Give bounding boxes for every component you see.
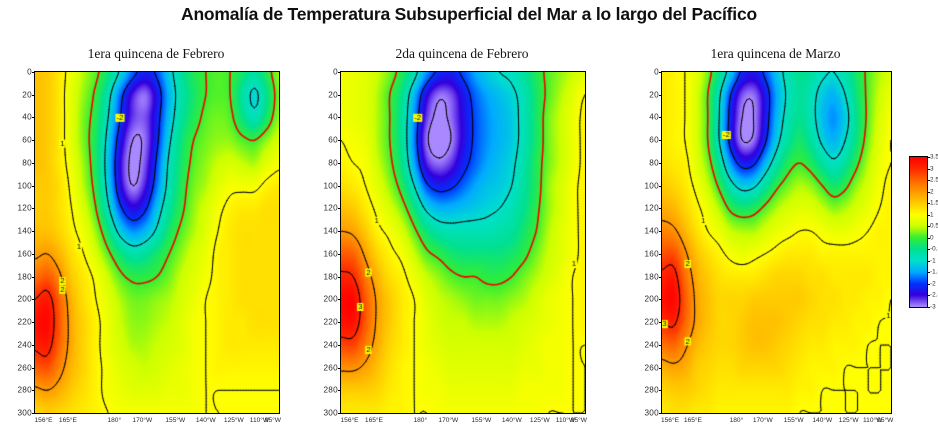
figure-title: Anomalía de Temperatura Subsuperficial d… <box>0 4 938 25</box>
y-axis-tick-label: 60 <box>328 136 338 145</box>
x-axis-tick-label: 156°E <box>341 417 359 424</box>
y-axis-tick-mark <box>659 277 662 278</box>
colorbar-tick-label: -1.5 <box>930 269 938 276</box>
colorbar-tick-label: -0.5 <box>930 246 938 253</box>
y-axis-tick-mark <box>659 368 662 369</box>
y-axis-tick-label: 160 <box>644 249 659 258</box>
y-axis-tick-mark <box>32 390 35 391</box>
y-axis-tick-mark <box>338 163 341 164</box>
colorbar-tick-mark <box>927 226 930 227</box>
y-axis-tick-mark <box>32 299 35 300</box>
x-axis-tick-label: 170°W <box>132 417 152 424</box>
y-axis-tick-label: 120 <box>644 204 659 213</box>
y-axis-tick-mark <box>338 368 341 369</box>
y-axis-tick-mark <box>32 277 35 278</box>
colorbar-tick-mark <box>927 249 930 250</box>
y-axis-tick-label: 200 <box>323 295 338 304</box>
panel-title: 2da quincena de Febrero <box>340 46 584 62</box>
y-axis-tick-label: 100 <box>644 181 659 190</box>
colorbar-tick-mark <box>927 169 930 170</box>
y-axis-tick-mark <box>338 322 341 323</box>
x-axis-tick-label: 140°W <box>196 417 216 424</box>
y-axis-tick-mark <box>32 72 35 73</box>
y-axis-tick-mark <box>659 72 662 73</box>
y-axis-tick-mark <box>32 163 35 164</box>
y-axis-tick-label: 300 <box>644 409 659 418</box>
y-axis-tick-label: 220 <box>323 318 338 327</box>
y-axis-tick-mark <box>659 95 662 96</box>
anomaly-field-canvas <box>341 72 585 413</box>
y-axis-tick-label: 60 <box>22 136 32 145</box>
x-axis-tick-label: 140°W <box>812 417 832 424</box>
y-axis-tick-mark <box>659 413 662 414</box>
y-axis-tick-mark <box>659 299 662 300</box>
colorbar-tick-mark <box>927 238 930 239</box>
y-axis-tick-mark <box>32 231 35 232</box>
colorbar-tick-label: 0 <box>930 234 934 241</box>
y-axis-tick-mark <box>338 95 341 96</box>
y-axis-tick-mark <box>32 117 35 118</box>
y-axis-tick-mark <box>338 208 341 209</box>
y-axis-tick-mark <box>338 231 341 232</box>
y-axis-tick-label: 40 <box>328 113 338 122</box>
y-axis-tick-label: 140 <box>323 227 338 236</box>
colorbar-tick-label: 1.5 <box>930 200 938 207</box>
y-axis-tick-label: 220 <box>644 318 659 327</box>
y-axis-tick-mark <box>32 322 35 323</box>
y-axis-tick-label: 260 <box>644 363 659 372</box>
y-axis-tick-label: 20 <box>649 90 659 99</box>
y-axis-tick-mark <box>659 231 662 232</box>
y-axis-tick-label: 240 <box>644 340 659 349</box>
x-axis-tick-label: 125°W <box>530 417 550 424</box>
plot-area: 0204060801001201401601802002202402602803… <box>34 71 280 414</box>
colorbar-tick-mark <box>927 261 930 262</box>
colorbar-tick-label: -1 <box>930 257 936 264</box>
y-axis-tick-label: 60 <box>649 136 659 145</box>
x-axis-tick-label: 125°W <box>224 417 244 424</box>
y-axis-tick-mark <box>32 95 35 96</box>
colorbar: 3.532.521.510.50-0.5-1-1.5-2-2.5-3 <box>909 156 928 308</box>
y-axis-tick-label: 280 <box>17 386 32 395</box>
colorbar-tick-mark <box>927 215 930 216</box>
y-axis-tick-label: 80 <box>22 158 32 167</box>
x-axis-tick-label: 180° <box>730 417 744 424</box>
colorbar-tick-label: 1 <box>930 211 934 218</box>
y-axis-tick-label: 20 <box>328 90 338 99</box>
y-axis-tick-label: 240 <box>17 340 32 349</box>
x-axis-tick-label: 165°E <box>365 417 383 424</box>
panel-title: 1era quincena de Marzo <box>661 46 890 62</box>
y-axis-tick-label: 260 <box>17 363 32 372</box>
y-axis-tick-mark <box>32 345 35 346</box>
colorbar-tick-mark <box>927 295 930 296</box>
y-axis-tick-label: 180 <box>323 272 338 281</box>
y-axis-tick-label: 200 <box>644 295 659 304</box>
x-axis-tick-label: 95°W <box>877 417 893 424</box>
y-axis-tick-mark <box>338 390 341 391</box>
plot-area: 0204060801001201401601802002202402602803… <box>340 71 586 414</box>
panel-feb-1: 1era quincena de Febrero0204060801001201… <box>34 71 278 412</box>
y-axis-tick-label: 80 <box>328 158 338 167</box>
y-axis-tick-label: 300 <box>17 409 32 418</box>
y-axis-tick-mark <box>659 208 662 209</box>
colorbar-tick-label: -2.5 <box>930 292 938 299</box>
y-axis-tick-mark <box>659 345 662 346</box>
y-axis-tick-mark <box>338 140 341 141</box>
x-axis-tick-label: 156°E <box>661 417 679 424</box>
colorbar-tick-mark <box>927 272 930 273</box>
y-axis-tick-label: 40 <box>649 113 659 122</box>
x-axis-tick-label: 155°W <box>165 417 185 424</box>
colorbar-tick-mark <box>927 307 930 308</box>
y-axis-tick-mark <box>659 117 662 118</box>
y-axis-tick-label: 300 <box>323 409 338 418</box>
y-axis-tick-label: 100 <box>17 181 32 190</box>
y-axis-tick-mark <box>338 299 341 300</box>
y-axis-tick-mark <box>338 117 341 118</box>
y-axis-tick-label: 100 <box>323 181 338 190</box>
y-axis-tick-label: 140 <box>644 227 659 236</box>
y-axis-tick-label: 40 <box>22 113 32 122</box>
y-axis-tick-mark <box>32 140 35 141</box>
y-axis-tick-mark <box>338 277 341 278</box>
colorbar-tick-mark <box>927 180 930 181</box>
y-axis-tick-mark <box>338 345 341 346</box>
y-axis-tick-label: 200 <box>17 295 32 304</box>
panel-mar-1: 1era quincena de Marzo020406080100120140… <box>661 71 890 412</box>
y-axis-tick-mark <box>338 254 341 255</box>
y-axis-tick-mark <box>659 163 662 164</box>
x-axis-tick-label: 156°E <box>35 417 53 424</box>
colorbar-tick-mark <box>927 157 930 158</box>
y-axis-tick-mark <box>32 368 35 369</box>
y-axis-tick-mark <box>659 322 662 323</box>
colorbar-tick-mark <box>927 203 930 204</box>
x-axis-tick-label: 155°W <box>784 417 804 424</box>
y-axis-tick-label: 120 <box>323 204 338 213</box>
y-axis-tick-mark <box>32 208 35 209</box>
y-axis-tick-mark <box>338 413 341 414</box>
y-axis-tick-mark <box>659 254 662 255</box>
x-axis-tick-label: 170°W <box>438 417 458 424</box>
y-axis-tick-label: 80 <box>649 158 659 167</box>
y-axis-tick-mark <box>338 186 341 187</box>
x-axis-tick-label: 95°W <box>265 417 281 424</box>
x-axis-tick-label: 165°E <box>59 417 77 424</box>
anomaly-field-canvas <box>35 72 279 413</box>
y-axis-tick-mark <box>32 254 35 255</box>
x-axis-tick-label: 125°W <box>839 417 859 424</box>
y-axis-tick-mark <box>659 390 662 391</box>
y-axis-tick-mark <box>32 413 35 414</box>
y-axis-tick-label: 180 <box>644 272 659 281</box>
colorbar-tick-mark <box>927 192 930 193</box>
colorbar-tick-label: 3 <box>930 165 934 172</box>
y-axis-tick-mark <box>659 186 662 187</box>
x-axis-tick-label: 165°E <box>684 417 702 424</box>
y-axis-tick-label: 120 <box>17 204 32 213</box>
colorbar-tick-label: 2 <box>930 188 934 195</box>
colorbar-tick-label: -2 <box>930 280 936 287</box>
colorbar-tick-label: 2.5 <box>930 177 938 184</box>
y-axis-tick-label: 160 <box>17 249 32 258</box>
y-axis-tick-mark <box>32 186 35 187</box>
y-axis-tick-label: 220 <box>17 318 32 327</box>
panel-title: 1era quincena de Febrero <box>34 46 278 62</box>
y-axis-tick-label: 280 <box>323 386 338 395</box>
x-axis-tick-label: 140°W <box>502 417 522 424</box>
x-axis-tick-label: 155°W <box>471 417 491 424</box>
colorbar-tick-label: 3.5 <box>930 154 938 161</box>
colorbar-tick-label: -3 <box>930 304 936 311</box>
y-axis-tick-mark <box>338 72 341 73</box>
x-axis-tick-label: 180° <box>413 417 427 424</box>
x-axis-tick-label: 95°W <box>571 417 587 424</box>
y-axis-tick-label: 280 <box>644 386 659 395</box>
x-axis-tick-label: 180° <box>107 417 121 424</box>
panel-feb-2: 2da quincena de Febrero02040608010012014… <box>340 71 584 412</box>
y-axis-tick-label: 180 <box>17 272 32 281</box>
anomaly-field-canvas <box>662 72 891 413</box>
colorbar-tick-label: 0.5 <box>930 223 938 230</box>
y-axis-tick-label: 240 <box>323 340 338 349</box>
x-axis-tick-label: 170°W <box>753 417 773 424</box>
colorbar-tick-mark <box>927 284 930 285</box>
y-axis-tick-label: 20 <box>22 90 32 99</box>
y-axis-tick-label: 260 <box>323 363 338 372</box>
y-axis-tick-label: 140 <box>17 227 32 236</box>
y-axis-tick-mark <box>659 140 662 141</box>
y-axis-tick-label: 160 <box>323 249 338 258</box>
plot-area: 0204060801001201401601802002202402602803… <box>661 71 892 414</box>
